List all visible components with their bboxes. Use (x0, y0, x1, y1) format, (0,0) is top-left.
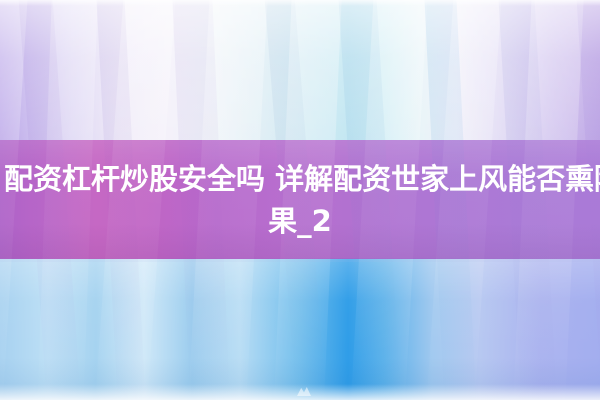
banner-image: 配资杠杆炒股安全吗 详解配资世家上风能否熏陶后 果_2 (0, 0, 600, 400)
top-highlight-strip (0, 0, 600, 6)
background-bottom-shade (0, 258, 600, 400)
title-line-2: 果_2 (268, 200, 332, 242)
title-line-1: 配资杠杆炒股安全吗 详解配资世家上风能否熏陶后 (0, 158, 600, 200)
title-container: 配资杠杆炒股安全吗 详解配资世家上风能否熏陶后 果_2 (0, 140, 600, 259)
